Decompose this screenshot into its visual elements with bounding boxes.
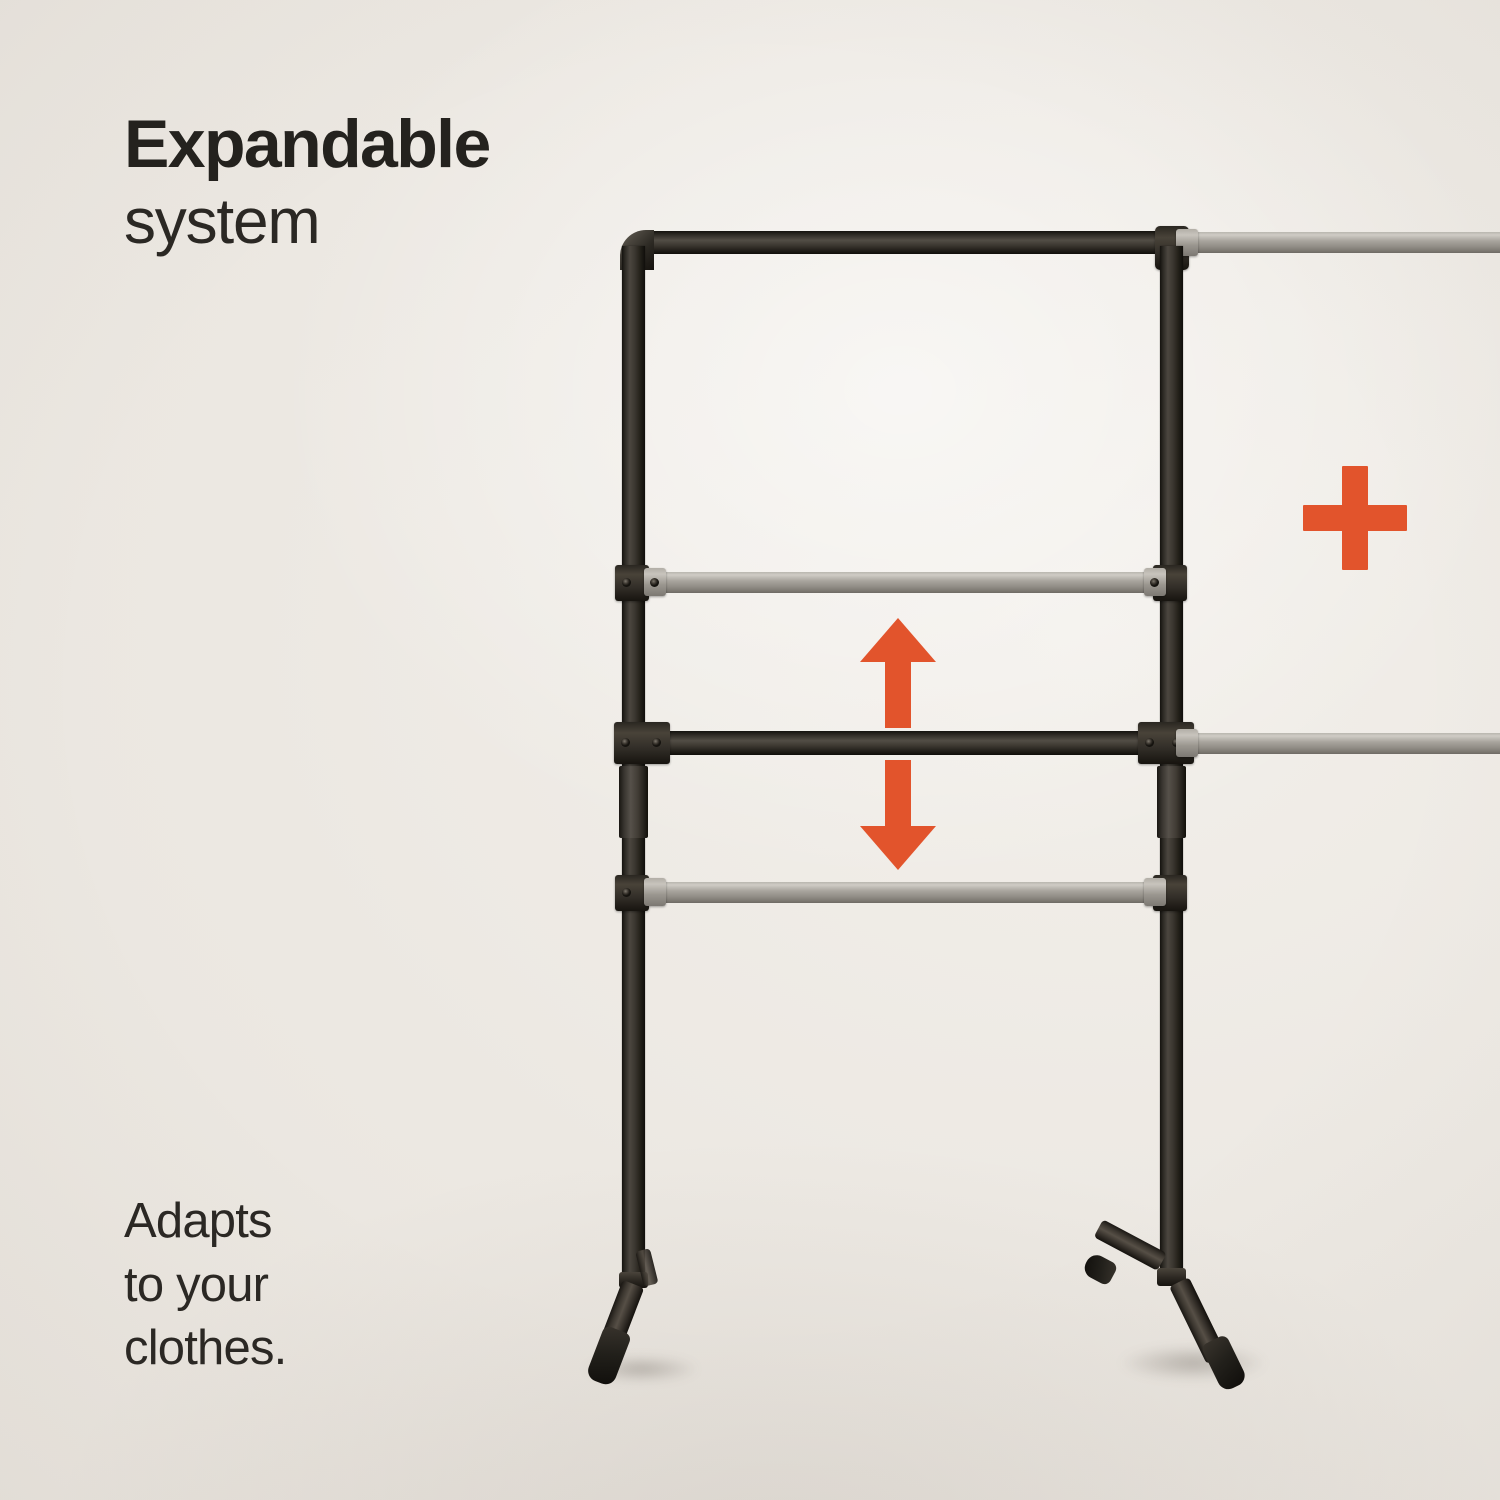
top-gray-extension-rail xyxy=(1176,232,1500,253)
middle-bar-left-screw-a xyxy=(621,738,630,747)
middle-extension-socket xyxy=(1176,729,1198,757)
subcopy-line-1: Adapts xyxy=(124,1190,544,1254)
lower-rail-left-socket xyxy=(644,878,666,906)
upper-rail-left-socket-screw xyxy=(650,578,659,587)
lower-rail-right-socket xyxy=(1144,878,1166,906)
arrow-up-icon xyxy=(860,618,936,728)
lower-gray-rail xyxy=(646,882,1164,903)
upper-rail-right-screw xyxy=(1150,578,1159,587)
right-post-telescoping-sleeve xyxy=(1157,766,1186,838)
floor-shadow-right xyxy=(1098,1340,1288,1386)
middle-bar-right-screw-a xyxy=(1145,738,1154,747)
right-foot-rear-cap xyxy=(1081,1251,1119,1286)
upper-rail-left-screw xyxy=(622,578,631,587)
product-marketing-image: Expandable system Adapts to your clothes… xyxy=(0,0,1500,1500)
arrow-up-shaft xyxy=(885,660,911,728)
arrow-down-icon xyxy=(860,760,936,870)
subcopy: Adapts to your clothes. xyxy=(124,1190,544,1381)
headline-line-1: Expandable xyxy=(124,110,744,178)
middle-bar-left-screw-b xyxy=(652,738,661,747)
arrow-up-head xyxy=(860,618,936,662)
lower-rail-left-screw xyxy=(622,888,631,897)
arrow-down-head xyxy=(860,826,936,870)
subcopy-line-2: to your xyxy=(124,1254,544,1318)
upper-gray-rail xyxy=(646,572,1164,593)
middle-gray-extension-rail xyxy=(1176,733,1500,754)
headline-line-2: system xyxy=(124,186,744,258)
plus-icon xyxy=(1303,466,1407,570)
headline: Expandable system xyxy=(124,110,744,258)
middle-black-crossbar xyxy=(646,731,1164,755)
arrow-down-shaft xyxy=(885,760,911,828)
left-post-telescoping-sleeve xyxy=(619,766,648,838)
subcopy-line-3: clothes. xyxy=(124,1317,544,1381)
plus-icon-horizontal-bar xyxy=(1303,505,1407,531)
